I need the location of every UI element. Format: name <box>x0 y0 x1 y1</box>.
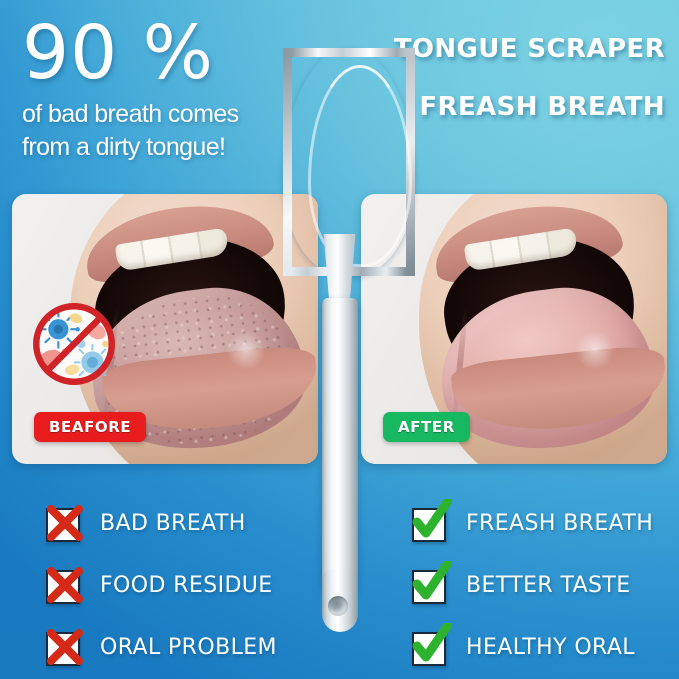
scraper-hanging-hole <box>328 596 348 616</box>
no-bacteria-icon <box>28 298 120 390</box>
mouth-corner-gloss <box>218 322 274 378</box>
tongue-scraper-product <box>275 48 405 638</box>
red-x-checkbox-icon <box>42 503 86 543</box>
check-mark-icon <box>408 561 452 605</box>
headline-subline-2: from a dirty tongue! <box>22 131 282 164</box>
x-mark-icon <box>42 561 86 605</box>
product-title-line-2: FREASH BREATH <box>375 92 665 122</box>
feature-row: HEALTHY ORAL <box>408 616 679 678</box>
feature-label: ORAL PROBLEM <box>100 635 277 660</box>
stat-percentage: 90 % <box>22 14 282 92</box>
feature-row: FREASH BREATH <box>408 492 679 554</box>
headline-block: 90 % of bad breath comes from a dirty to… <box>22 14 282 164</box>
before-photo-card: BEAFORE <box>12 194 318 464</box>
check-mark-icon <box>408 499 452 543</box>
feature-label: BETTER TASTE <box>466 573 631 598</box>
before-badge: BEAFORE <box>34 412 146 442</box>
feature-row: BETTER TASTE <box>408 554 679 616</box>
x-mark-icon <box>42 623 86 667</box>
feature-label: FOOD RESIDUE <box>100 573 273 598</box>
product-title-line-1: TONGUE SCRAPER <box>375 34 665 64</box>
check-mark-icon <box>408 623 452 667</box>
red-x-checkbox-icon <box>42 627 86 667</box>
feature-label: FREASH BREATH <box>466 511 653 536</box>
green-check-checkbox-icon <box>408 503 452 543</box>
mouth-corner-gloss <box>567 322 623 378</box>
product-advertisement-canvas: 90 % of bad breath comes from a dirty to… <box>0 0 679 679</box>
product-title-block: TONGUE SCRAPER FREASH BREATH <box>375 34 665 122</box>
feature-label: BAD BREATH <box>100 511 246 536</box>
after-photo-card: AFTER <box>361 194 667 464</box>
green-check-checkbox-icon <box>408 565 452 605</box>
positive-feature-list: FREASH BREATH BETTER TASTE HEALTHY ORAL <box>408 492 679 678</box>
green-check-checkbox-icon <box>408 627 452 667</box>
feature-label: HEALTHY ORAL <box>466 635 635 660</box>
x-mark-icon <box>42 499 86 543</box>
headline-subline-1: of bad breath comes <box>22 98 282 131</box>
red-x-checkbox-icon <box>42 565 86 605</box>
scraper-handle <box>322 298 358 598</box>
scraper-loop-inner-edge <box>308 65 412 267</box>
